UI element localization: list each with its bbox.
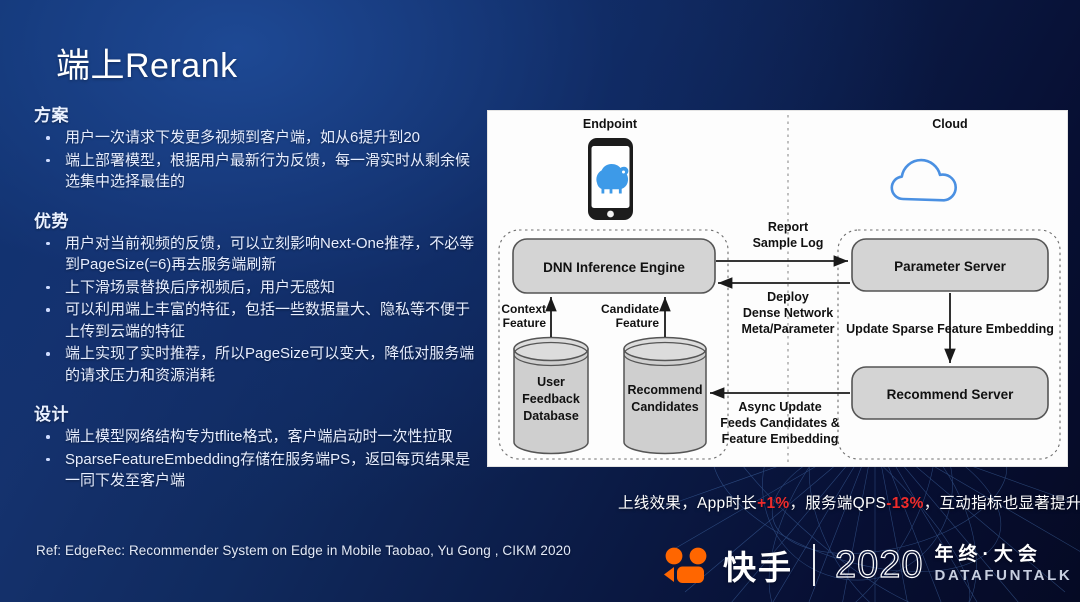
- section-heading-plan: 方案: [34, 101, 484, 126]
- cloud-icon: [892, 160, 956, 200]
- group-label-cloud: Cloud: [932, 117, 967, 131]
- svg-text:Database: Database: [523, 409, 579, 423]
- node-recommend-candidates: Recommend Candidates: [624, 338, 706, 454]
- list-item: 端上实现了实时推荐，所以PageSize可以变大，降低对服务端的请求压力和资源消…: [34, 343, 484, 386]
- conference-name-block: 年终·大会 DATAFUNTALK: [935, 545, 1073, 584]
- conference-year: 2020: [835, 546, 924, 584]
- group-label-endpoint: Endpoint: [583, 117, 638, 131]
- slide-canvas: 端上Rerank 方案 用户一次请求下发更多视频到客户端，如从6提升到20 端上…: [0, 0, 1080, 602]
- svg-text:Meta/Parameter: Meta/Parameter: [741, 322, 834, 336]
- svg-text:Async Update: Async Update: [738, 400, 821, 414]
- section-heading-design: 设计: [34, 400, 484, 425]
- svg-text:Feature Embedding: Feature Embedding: [722, 432, 839, 446]
- architecture-diagram: Endpoint Cloud: [487, 110, 1068, 467]
- node-label: Recommend Server: [887, 387, 1015, 402]
- metric-app-duration: +1%: [757, 495, 789, 512]
- list-item: 可以利用端上丰富的特征，包括一些数据量大、隐私等不便于上传到云端的特征: [34, 299, 484, 342]
- diagram-svg: Endpoint Cloud: [488, 111, 1067, 466]
- svg-text:Sample Log: Sample Log: [753, 236, 824, 250]
- svg-text:Candidates: Candidates: [631, 400, 698, 414]
- svg-text:Feedback: Feedback: [522, 392, 580, 406]
- list-item: 上下滑场景替换后序视频后，用户无感知: [34, 277, 484, 299]
- svg-text:Feature: Feature: [503, 316, 547, 330]
- svg-text:Recommend: Recommend: [627, 383, 702, 397]
- svg-text:Dense Network: Dense Network: [743, 306, 833, 320]
- result-suffix: ，互动指标也显著提升: [924, 495, 1080, 512]
- reference-note: Ref: EdgeRec: Recommender System on Edge…: [36, 543, 571, 558]
- result-middle: ，服务端QPS: [789, 495, 886, 512]
- kuaishou-logo-icon: [660, 545, 714, 585]
- node-dnn-inference-engine: DNN Inference Engine: [513, 239, 715, 293]
- conference-name-cn: 年终·大会: [935, 545, 1073, 566]
- brand-name-cn: 快手: [723, 541, 793, 589]
- bullet-list-design: 端上模型网络结构专为tflite格式，客户端启动时一次性拉取 SparseFea…: [34, 426, 484, 492]
- result-prefix: 上线效果，App时长: [618, 495, 757, 512]
- list-item: 用户对当前视频的反馈，可以立刻影响Next-One推荐，不必等到PageSize…: [34, 233, 484, 276]
- svg-text:Deploy: Deploy: [767, 290, 809, 304]
- bullet-list-advantages: 用户对当前视频的反馈，可以立刻影响Next-One推荐，不必等到PageSize…: [34, 233, 484, 387]
- section-heading-advantages: 优势: [34, 207, 484, 232]
- node-label: Parameter Server: [894, 259, 1007, 274]
- svg-text:Context: Context: [501, 302, 546, 316]
- conference-name-en: DATAFUNTALK: [935, 567, 1073, 584]
- svg-text:Candidate: Candidate: [601, 302, 659, 316]
- content-column: 方案 用户一次请求下发更多视频到客户端，如从6提升到20 端上部署模型，根据用户…: [34, 101, 484, 493]
- metric-server-qps: -13%: [886, 495, 923, 512]
- node-parameter-server: Parameter Server: [852, 239, 1048, 291]
- svg-text:Report: Report: [768, 220, 809, 234]
- footer-branding: 快手 2020 年终·大会 DATAFUNTALK: [660, 537, 1072, 593]
- list-item: 用户一次请求下发更多视频到客户端，如从6提升到20: [34, 127, 484, 149]
- edge-label-update-sparse: Update Sparse Feature Embedding: [846, 322, 1054, 336]
- logo-divider: [813, 544, 815, 586]
- svg-text:User: User: [537, 375, 565, 389]
- list-item: SparseFeatureEmbedding存储在服务端PS，返回每页结果是一同…: [34, 449, 484, 492]
- node-user-feedback-database: User Feedback Database: [514, 338, 588, 454]
- result-summary: 上线效果，App时长+1%，服务端QPS-13%，互动指标也显著提升: [618, 491, 1080, 513]
- svg-text:Feature: Feature: [616, 316, 660, 330]
- node-recommend-server: Recommend Server: [852, 367, 1048, 419]
- list-item: 端上部署模型，根据用户最新行为反馈，每一滑实时从剩余候选集中选择最佳的: [34, 150, 484, 193]
- list-item: 端上模型网络结构专为tflite格式，客户端启动时一次性拉取: [34, 426, 484, 448]
- bullet-list-plan: 用户一次请求下发更多视频到客户端，如从6提升到20 端上部署模型，根据用户最新行…: [34, 127, 484, 193]
- node-label: DNN Inference Engine: [543, 260, 685, 275]
- svg-text:Feeds Candidates &: Feeds Candidates &: [720, 416, 839, 430]
- page-title: 端上Rerank: [56, 38, 238, 87]
